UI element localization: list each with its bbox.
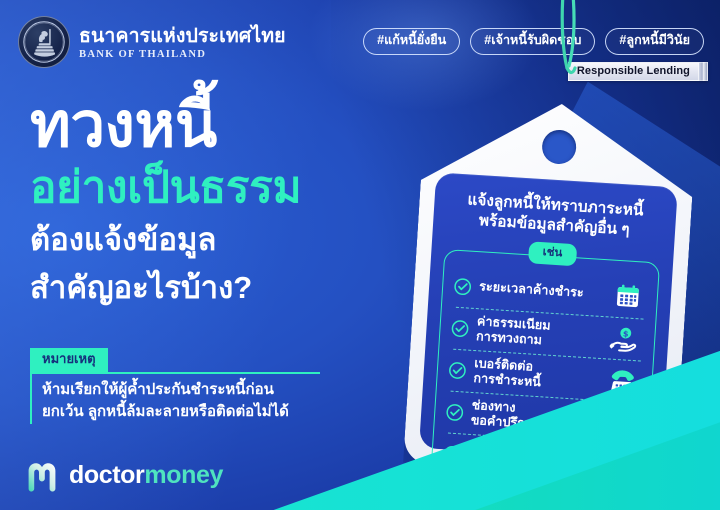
list-item-label: เบอร์ติดต่อ การชำระหนี้	[473, 356, 598, 394]
note-line-2-bold: ยกเว้น	[42, 403, 84, 420]
doctormoney-brand[interactable]: doctormoney	[24, 458, 223, 492]
hashtag-chip-1[interactable]: #แก้หนี้ยั่งยืน	[363, 28, 460, 55]
chat-bubble-icon	[600, 405, 640, 439]
headline-line-2: อย่างเป็นธรรม	[30, 164, 430, 212]
note-body: ห้ามเรียกให้ผู้ค้ำประกันชำระหนี้ก่อน ยกเ…	[30, 372, 370, 425]
check-circle-icon	[450, 318, 470, 338]
check-circle-icon	[447, 360, 467, 380]
brand-word-money: money	[144, 461, 223, 489]
bank-name-english: BANK OF THAILAND	[79, 49, 286, 60]
hashtag-chip-2[interactable]: #เจ้าหนี้รับผิดชอบ	[470, 28, 595, 55]
doctormoney-m-logo-icon	[24, 458, 60, 492]
check-circle-icon	[453, 276, 473, 296]
telephone-icon	[603, 363, 643, 397]
headline-line-3b: สำคัญอะไรบ้าง?	[30, 269, 430, 307]
hang-tag-card: แจ้งลูกหนี้ให้ทราบภาระหนี้ พร้อมข้อมูลสำ…	[403, 96, 698, 480]
responsible-lending-badge: Responsible Lending	[568, 62, 708, 81]
responsible-lending-bar	[699, 62, 708, 81]
svg-text:$: $	[623, 329, 630, 338]
list-item-label: ค่าธรรมเนียม การทวงถาม	[476, 314, 601, 352]
list-item-label-line-1: ระยะเวลาค้างชำระ	[479, 280, 603, 303]
note-line-1: ห้ามเรียกให้ผู้ค้ำประกันชำระหนี้ก่อน	[42, 379, 370, 401]
check-circle-icon	[442, 444, 462, 464]
note-block: หมายเหตุ ห้ามเรียกให้ผู้ค้ำประกันชำระหนี…	[30, 348, 370, 424]
headline-line-1: ทวงหนี้	[30, 96, 430, 156]
check-circle-icon	[445, 402, 465, 422]
doctormoney-wordmark: doctormoney	[69, 463, 223, 488]
example-chip: เช่น	[528, 241, 577, 266]
list-item-label: ช่องทาง ขอคำปรึกษา	[470, 398, 595, 436]
hashtag-group: #แก้หนี้ยั่งยืน #เจ้าหนี้รับผิดชอบ #ลูกห…	[363, 28, 704, 55]
support-agent-icon	[597, 447, 637, 481]
note-line-2-rest: ลูกหนี้ล้มละลายหรือติดต่อไม่ได้	[84, 403, 289, 420]
responsible-lending-label: Responsible Lending	[568, 62, 699, 81]
list-item-label: ระยะเวลาค้างชำระ	[479, 280, 603, 303]
tag-string-icon	[546, 0, 590, 120]
brand-word-doctor: doctor	[69, 461, 144, 489]
list-item-label: สิทธิ/วิธีการ/ ช่องทางร้องเรียน	[468, 440, 593, 478]
note-line-2: ยกเว้น ลูกหนี้ล้มละลายหรือติดต่อไม่ได้	[42, 401, 370, 423]
bank-name-block: ธนาคารแห่งประเทศไทย BANK OF THAILAND	[79, 24, 286, 59]
headline-line-3a: ต้องแจ้งข้อมูล	[30, 221, 430, 259]
bank-of-thailand-brand: ธนาคารแห่งประเทศไทย BANK OF THAILAND	[18, 16, 286, 68]
hand-coin-icon: $	[605, 321, 645, 355]
note-badge-label: หมายเหตุ	[30, 348, 108, 372]
tag-inner-panel: แจ้งลูกหนี้ให้ทราบภาระหนี้ พร้อมข้อมูลสำ…	[419, 172, 678, 463]
bank-of-thailand-seal-icon	[18, 16, 70, 68]
bank-name-thai: ธนาคารแห่งประเทศไทย	[79, 26, 286, 46]
hashtag-chip-3[interactable]: #ลูกหนี้มีวินัย	[605, 28, 704, 55]
tag-list-box: เช่น ระยะเวลาค้างชำระ	[430, 249, 660, 498]
headline-block: ทวงหนี้ อย่างเป็นธรรม ต้องแจ้งข้อมูล สำค…	[30, 96, 430, 307]
infographic-canvas: ธนาคารแห่งประเทศไทย BANK OF THAILAND #แก…	[0, 0, 720, 510]
calendar-icon	[608, 279, 648, 313]
tag-title: แจ้งลูกหนี้ให้ทราบภาระหนี้ พร้อมข้อมูลสำ…	[446, 189, 664, 243]
